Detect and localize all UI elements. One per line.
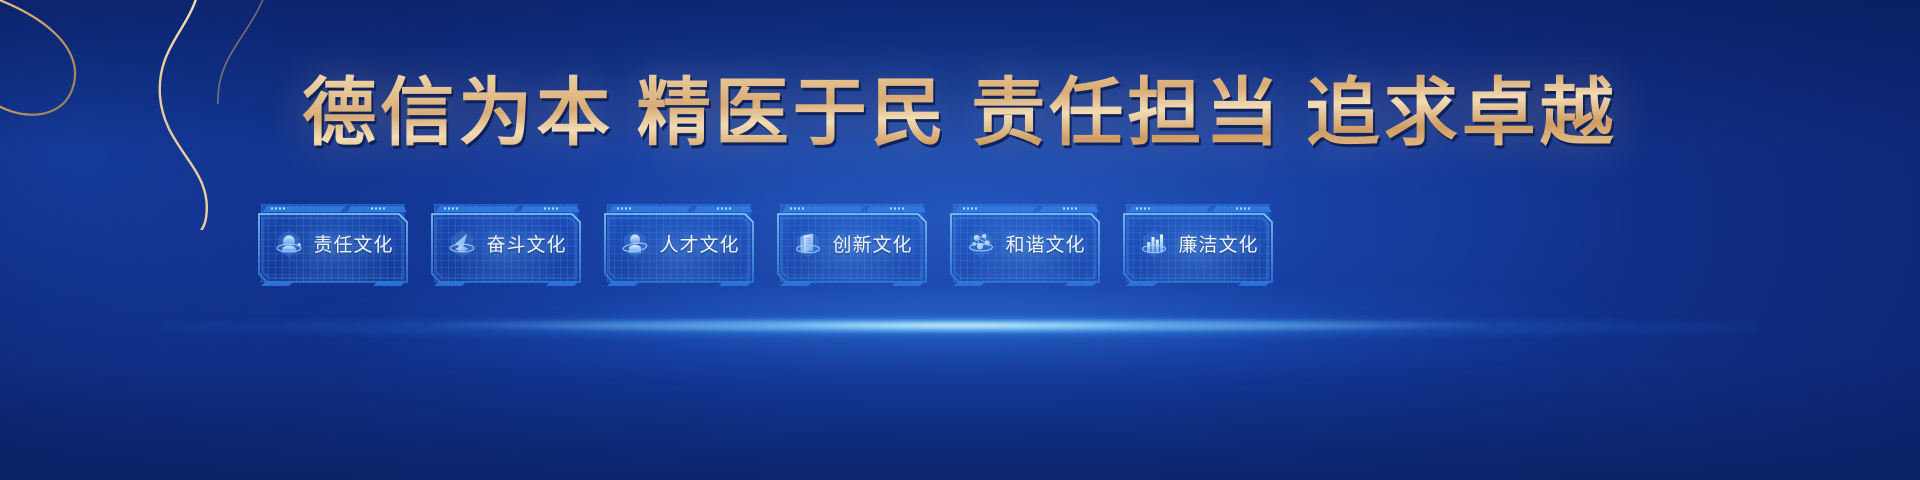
card-label: 责任文化 — [313, 230, 393, 257]
culture-card[interactable]: 奋斗文化 — [426, 196, 586, 286]
culture-card-row: 责任文化 — [253, 196, 1667, 290]
culture-card[interactable]: 责任文化 — [253, 196, 413, 286]
culture-card[interactable]: 和谐文化 — [945, 196, 1105, 286]
document-pillar-icon — [791, 226, 825, 260]
card-content: 奋斗文化 — [426, 196, 586, 286]
person-orbit-icon — [618, 226, 652, 260]
card-content: 和谐文化 — [945, 196, 1105, 286]
culture-card[interactable]: 创新文化 — [772, 196, 932, 286]
banner-title-wrap: 德信为本 精医于民 责任担当 追求卓越 — [0, 62, 1920, 166]
card-label: 创新文化 — [832, 230, 912, 257]
culture-banner: 德信为本 精医于民 责任担当 追求卓越 — [0, 0, 1920, 480]
banner-title: 德信为本 精医于民 责任担当 追求卓越 — [302, 62, 1618, 166]
bar-chart-icon — [1137, 226, 1171, 260]
card-label: 人才文化 — [659, 230, 739, 257]
card-label: 廉洁文化 — [1178, 230, 1258, 257]
culture-card[interactable]: 廉洁文化 — [1118, 196, 1278, 286]
card-content: 责任文化 — [253, 196, 413, 286]
cyan-light-streak-core — [430, 318, 1490, 332]
culture-card[interactable]: 人才文化 — [599, 196, 759, 286]
person-globe-icon — [272, 226, 306, 260]
molecule-network-icon — [964, 226, 998, 260]
card-label: 和谐文化 — [1005, 230, 1085, 257]
card-content: 人才文化 — [599, 196, 759, 286]
card-content: 廉洁文化 — [1118, 196, 1278, 286]
rocket-icon — [445, 226, 479, 260]
card-content: 创新文化 — [772, 196, 932, 286]
card-label: 奋斗文化 — [486, 230, 566, 257]
